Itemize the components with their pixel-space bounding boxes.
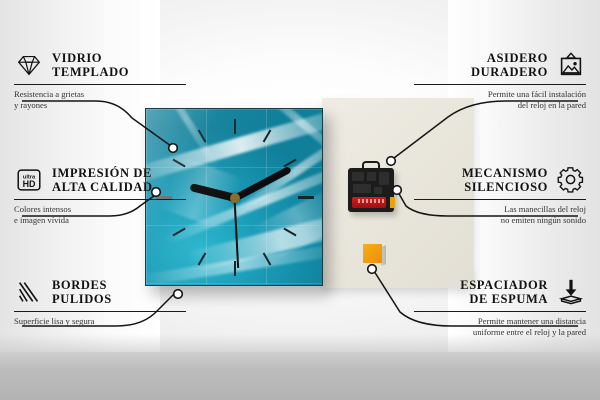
feature-header: ESPACIADOR DE ESPUMA [414, 277, 586, 307]
feature-title: MECANISMO SILENCIOSO [462, 166, 548, 195]
polished-edges-icon [14, 277, 44, 307]
battery [352, 197, 386, 208]
feature-header: VIDRIO TEMPLADO [14, 50, 186, 80]
feature-header: ultra HD IMPRESIÓN DE ALTA CALIDAD [14, 165, 186, 195]
divider [414, 199, 586, 200]
feature-title: BORDES PULIDOS [52, 278, 112, 307]
down-arrow-layers-icon [556, 277, 586, 307]
divider [14, 199, 186, 200]
diamond-icon [14, 50, 44, 80]
feature-title: VIDRIO TEMPLADO [52, 51, 129, 80]
feature-description: Permite una fácil instalación del reloj … [414, 89, 586, 110]
feature-description: Las manecillas del reloj no emiten ningú… [414, 204, 586, 225]
feature-high-quality-print: ultra HD IMPRESIÓN DE ALTA CALIDAD Color… [14, 165, 186, 225]
divider [414, 311, 586, 312]
feature-foam-spacer: ESPACIADOR DE ESPUMA Permite mantener un… [414, 277, 586, 337]
divider [14, 311, 186, 312]
mechanism-detail [352, 172, 364, 181]
feature-title: ESPACIADOR DE ESPUMA [460, 278, 548, 307]
feature-description: Permite mantener una distancia uniforme … [414, 316, 586, 337]
battery-label [358, 199, 386, 203]
mechanism-detail [374, 187, 382, 194]
foam-spacer-face [363, 244, 382, 263]
feature-durable-hanger: ASIDERO DURADERO Permite una fácil insta… [414, 50, 586, 110]
foam-spacer [363, 244, 382, 263]
floor-band [0, 352, 600, 400]
feature-title: IMPRESIÓN DE ALTA CALIDAD [52, 166, 153, 195]
gear-icon [556, 165, 586, 195]
feature-polished-edges: BORDES PULIDOS Superficie lisa y segura [14, 277, 186, 327]
mechanism-body [348, 168, 394, 212]
mechanism-detail [379, 172, 389, 185]
feature-description: Superficie lisa y segura [14, 316, 186, 327]
divider [14, 84, 186, 85]
feature-tempered-glass: VIDRIO TEMPLADO Resistencia a grietas y … [14, 50, 186, 110]
mechanism-detail [353, 184, 371, 193]
feature-description: Resistencia a grietas y rayones [14, 89, 186, 110]
battery-terminal [390, 197, 395, 208]
feature-title: ASIDERO DURADERO [471, 51, 548, 80]
feature-header: ASIDERO DURADERO [414, 50, 586, 80]
svg-text:HD: HD [23, 179, 36, 189]
ultra-hd-badge-icon: ultra HD [14, 165, 44, 195]
clock-mechanism [348, 168, 394, 212]
feature-description: Colores intensos e imagen vívida [14, 204, 186, 225]
feature-header: MECANISMO SILENCIOSO [414, 165, 586, 195]
feature-header: BORDES PULIDOS [14, 277, 186, 307]
feature-silent-mechanism: MECANISMO SILENCIOSO Las manecillas del … [414, 165, 586, 225]
mechanism-detail [367, 172, 376, 181]
product-infographic-canvas: VIDRIO TEMPLADO Resistencia a grietas y … [0, 0, 600, 400]
divider [414, 84, 586, 85]
framed-picture-icon [556, 50, 586, 80]
